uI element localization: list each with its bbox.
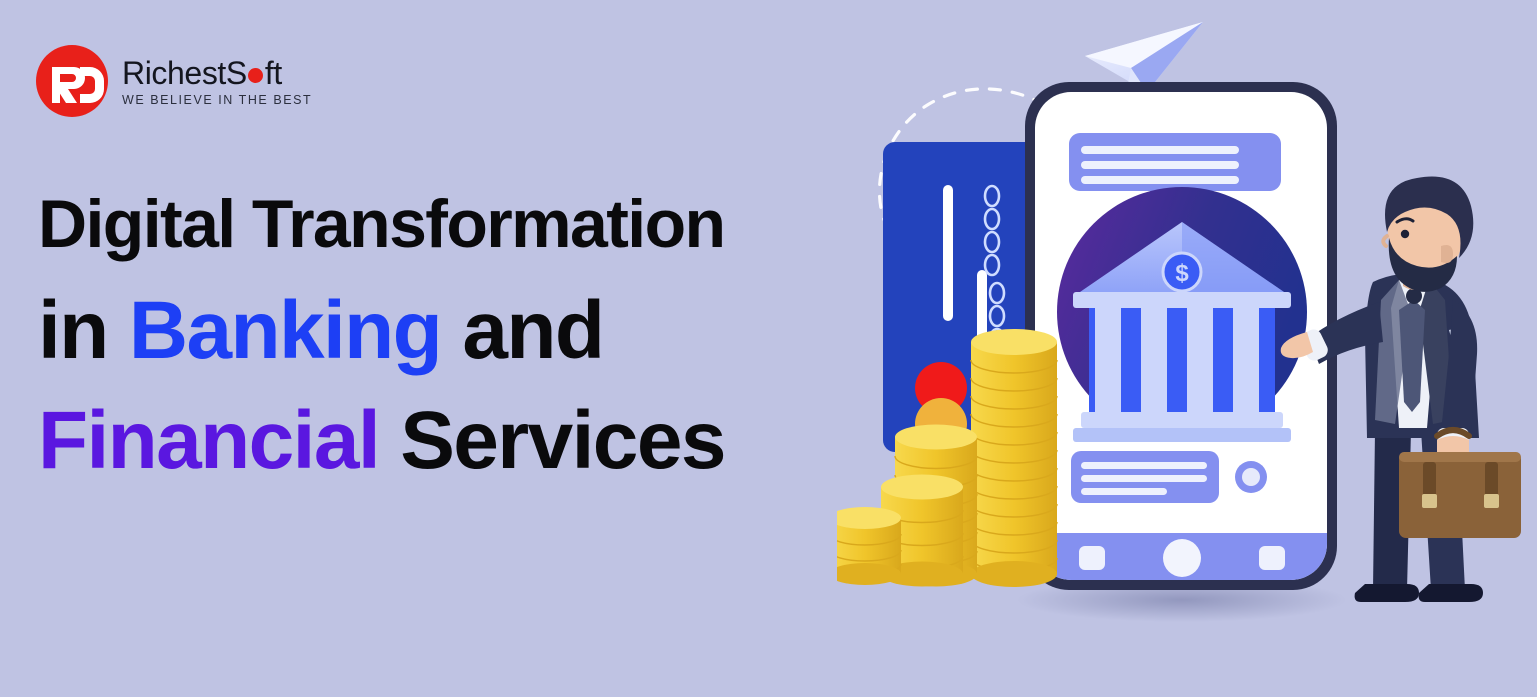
ear xyxy=(1441,245,1453,263)
phone-toggle-icon xyxy=(1235,461,1267,493)
shoe-left xyxy=(1355,584,1419,602)
company-logo[interactable]: RichestSft WE BELIEVE IN THE BEST xyxy=(36,45,312,117)
banner-root: RichestSft WE BELIEVE IN THE BEST Digita… xyxy=(0,0,1537,697)
coin-stack-small xyxy=(837,507,901,585)
headline-block: Digital Transformation in Banking and Fi… xyxy=(38,190,725,482)
logo-wordmark-part1: RichestS xyxy=(122,57,247,89)
logo-wordmark: RichestSft xyxy=(122,57,312,89)
phone-top-card xyxy=(1069,133,1281,191)
illustration: $ xyxy=(837,0,1537,697)
headline-accent-banking: Banking xyxy=(129,285,441,376)
bank-building-icon: $ xyxy=(1057,187,1307,442)
smartphone-icon: $ xyxy=(1025,82,1337,590)
headline-line-3: Financial Services xyxy=(38,400,725,482)
phone-nav-home-button xyxy=(1163,539,1201,577)
phone-nav-left-button xyxy=(1079,546,1105,570)
headline-line-2-prefix: in xyxy=(38,285,129,376)
nose xyxy=(1383,236,1387,246)
logo-tagline: WE BELIEVE IN THE BEST xyxy=(122,93,312,107)
logo-wordmark-part2: ft xyxy=(265,57,282,89)
logo-text-block: RichestSft WE BELIEVE IN THE BEST xyxy=(122,55,312,107)
phone-nav-right-button xyxy=(1259,546,1285,570)
logo-red-dot-o-icon xyxy=(248,68,263,83)
shoe-right xyxy=(1419,584,1483,602)
phone-lower-card xyxy=(1071,451,1219,503)
headline-line-2-suffix: and xyxy=(441,285,603,376)
headline-line-3-suffix: Services xyxy=(379,395,725,486)
coin-stack-tall xyxy=(971,329,1057,587)
headline-line-2: in Banking and xyxy=(38,290,725,372)
svg-text:$: $ xyxy=(1175,260,1189,287)
eye xyxy=(1401,230,1409,238)
headline-accent-financial: Financial xyxy=(38,395,379,486)
richestsoft-rs-monogram-icon xyxy=(36,45,108,117)
headline-line-1: Digital Transformation xyxy=(38,190,725,258)
